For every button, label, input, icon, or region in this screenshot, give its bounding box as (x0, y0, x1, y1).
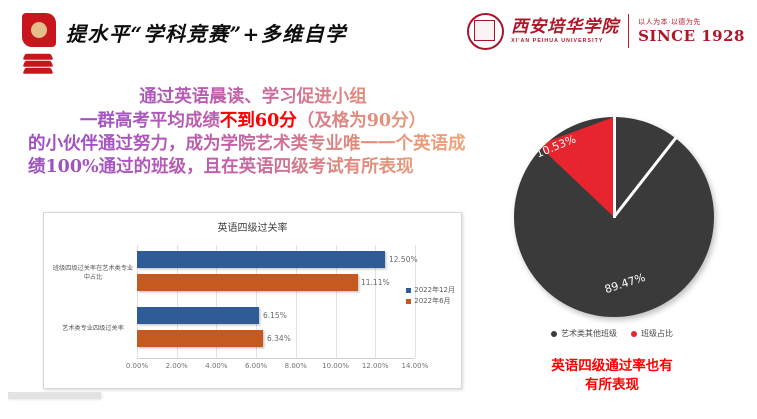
logo-layer-icon (23, 68, 54, 74)
bar-value-label: 6.34% (267, 330, 291, 347)
slide-title: 提水平“学科竞赛”+多维自学 (66, 18, 347, 47)
bar-value-label: 12.50% (389, 251, 418, 268)
university-seal-icon (467, 13, 504, 50)
legend-item[interactable]: 2022年6月 (406, 296, 455, 307)
legend-swatch-icon (406, 288, 411, 293)
body-highlight: 不到60分 (220, 111, 297, 131)
university-logo: 西安培华学院 XI'AN PEIHUA UNIVERSITY 以人为本·以德为先… (467, 12, 745, 50)
university-since: SINCE 1928 (638, 28, 745, 45)
bar-chart-legend: 2022年12月 2022年6月 (406, 285, 455, 307)
x-tick-label: 0.00% (126, 362, 148, 370)
logo-layer-icon (23, 54, 54, 60)
x-tick-label: 14.00% (402, 362, 429, 370)
bottom-decor-bar (8, 392, 101, 399)
bar[interactable] (137, 251, 385, 268)
slide-header: 提水平“学科竞赛”+多维自学 西安培华学院 XI'AN PEIHUA UNIVE… (0, 0, 757, 80)
bar-value-label: 6.15% (263, 307, 287, 324)
x-tick-label: 2.00% (166, 362, 188, 370)
legend-swatch-icon (406, 299, 411, 304)
pie-chart-legend: 艺术类其他班级 班级占比 (497, 328, 727, 339)
body-line-2-prefix: 一群高考平均成绩 (80, 111, 220, 131)
logo-layer-icon (23, 61, 54, 67)
legend-dot-icon (551, 331, 557, 337)
bar-category-label: 班级四级过关率在艺术类专业中占比 (52, 265, 134, 282)
x-tick-label: 6.00% (245, 362, 267, 370)
legend-label: 艺术类其他班级 (561, 328, 617, 339)
logo-square-icon (22, 13, 56, 47)
legend-label: 2022年12月 (414, 285, 455, 296)
bar-chart-title: 英语四级过关率 (44, 219, 461, 234)
pie-chart (497, 104, 757, 354)
body-line-2: 一群高考平均成绩不到60分（及格为90分） (28, 110, 478, 133)
legend-dot-icon (631, 331, 637, 337)
x-tick-label: 8.00% (285, 362, 307, 370)
bar[interactable] (137, 330, 263, 347)
body-text: 通过英语晨读、学习促进小组 一群高考平均成绩不到60分（及格为90分） 的小伙伴… (28, 86, 478, 179)
pie-caption: 英语四级通过率也有 有所表现 (497, 357, 727, 395)
university-motto-block: 以人为本·以德为先 SINCE 1928 (638, 14, 745, 48)
stacked-layers-logo (22, 13, 58, 75)
university-name-en: XI'AN PEIHUA UNIVERSITY (511, 37, 619, 45)
x-tick-label: 12.00% (362, 362, 389, 370)
bar[interactable] (137, 307, 259, 324)
logo-dot-icon (31, 22, 47, 38)
pie-caption-line-2: 有所表现 (497, 376, 727, 395)
bar-plot-area: 12.50% 11.11% 6.15% 6.34% (137, 245, 415, 358)
bar[interactable] (137, 274, 358, 291)
pie-slice-gap (613, 117, 616, 218)
x-tick-label: 4.00% (205, 362, 227, 370)
x-tick-label: 10.00% (322, 362, 349, 370)
body-line-2-suffix: （及格为90分） (297, 111, 426, 131)
body-paragraph: 的小伙伴通过努力，成为学院艺术类专业唯一一个英语成绩100%通过的班级，且在英语… (28, 133, 478, 179)
bar-axis-line (137, 358, 415, 359)
university-name-block: 西安培华学院 XI'AN PEIHUA UNIVERSITY (511, 14, 629, 48)
university-name-cn: 西安培华学院 (511, 18, 619, 37)
pie-caption-line-1: 英语四级通过率也有 (497, 357, 727, 376)
body-line-1: 通过英语晨读、学习促进小组 (28, 86, 478, 109)
legend-label: 班级占比 (641, 328, 673, 339)
legend-item[interactable]: 班级占比 (631, 328, 673, 339)
bar-category-label: 艺术类专业四级过关率 (52, 325, 134, 334)
legend-label: 2022年6月 (414, 296, 450, 307)
bar-value-label: 11.11% (361, 274, 390, 291)
legend-item[interactable]: 2022年12月 (406, 285, 455, 296)
bar-chart: 英语四级过关率 12.50% 11.11% 6.15% 6.34% 班级四级过关… (43, 212, 462, 389)
legend-item[interactable]: 艺术类其他班级 (551, 328, 617, 339)
